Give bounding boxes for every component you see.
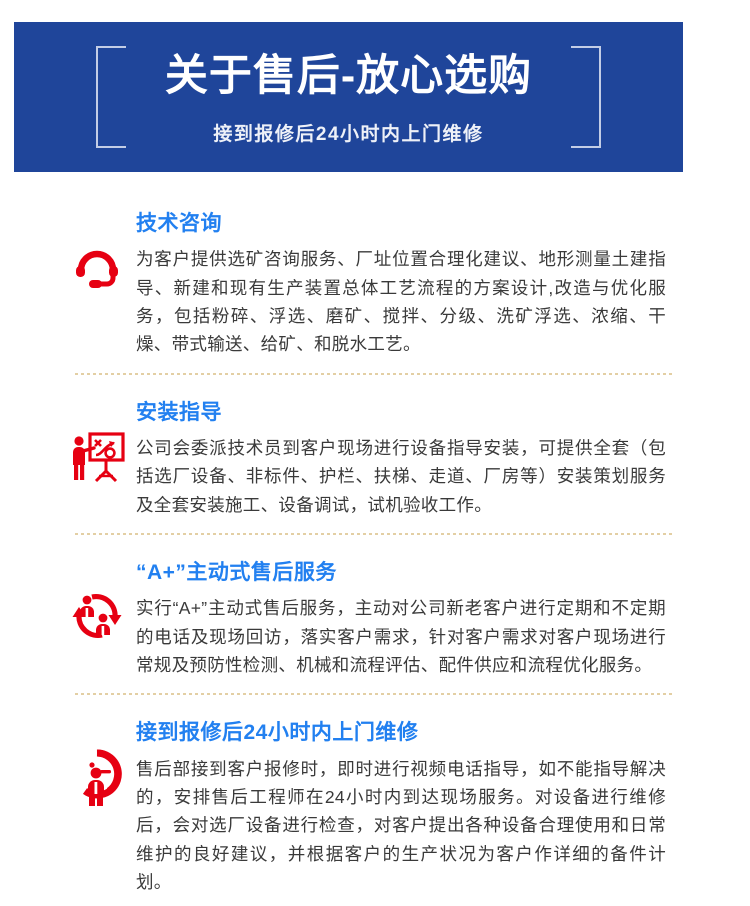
banner-inner: 关于售后-放心选购 接到报修后24小时内上门维修 xyxy=(14,22,683,172)
presentation-person-icon xyxy=(58,399,136,485)
service-section-title: “A+”主动式售后服务 xyxy=(136,559,666,586)
service-section-title: 接到报修后24小时内上门维修 xyxy=(136,719,666,746)
section-divider xyxy=(75,533,675,535)
service-section-row: 接到报修后24小时内上门维修 售后部接到客户报修时，即时进行视频电话指导，如不能… xyxy=(0,719,750,896)
service-section-text: “A+”主动式售后服务 实行“A+”主动式售后服务，主动对公司新老客户进行定期和… xyxy=(136,559,750,679)
service-section: “A+”主动式售后服务 实行“A+”主动式售后服务，主动对公司新老客户进行定期和… xyxy=(0,545,750,705)
service-section-title: 技术咨询 xyxy=(136,210,666,237)
banner-title: 关于售后-放心选购 xyxy=(14,52,683,101)
service-section-row: 安装指导 公司会委派技术员到客户现场进行设备指导安装，可提供全套（包括选厂设备、… xyxy=(0,399,750,519)
service-section-body: 实行“A+”主动式售后服务，主动对公司新老客户进行定期和不定期的电话及现场回访，… xyxy=(136,594,666,679)
service-section-title: 安装指导 xyxy=(136,399,666,426)
service-section-text: 技术咨询 为客户提供选矿咨询服务、厂址位置合理化建议、地形测量土建指导、新建和现… xyxy=(136,210,750,359)
service-section: 接到报修后24小时内上门维修 售后部接到客户报修时，即时进行视频电话指导，如不能… xyxy=(0,705,750,906)
service-sections-list: 技术咨询 为客户提供选矿咨询服务、厂址位置合理化建议、地形测量土建指导、新建和现… xyxy=(0,196,750,906)
service-section-body: 为客户提供选矿咨询服务、厂址位置合理化建议、地形测量土建指导、新建和现有生产装置… xyxy=(136,245,666,358)
section-divider xyxy=(75,693,675,695)
service-section-body: 售后部接到客户报修时，即时进行视频电话指导，如不能指导解决的，安排售后工程师在2… xyxy=(136,755,666,897)
service-section: 安装指导 公司会委派技术员到客户现场进行设备指导安装，可提供全套（包括选厂设备、… xyxy=(0,385,750,545)
service-section-row: “A+”主动式售后服务 实行“A+”主动式售后服务，主动对公司新老客户进行定期和… xyxy=(0,559,750,679)
service-section-text: 接到报修后24小时内上门维修 售后部接到客户报修时，即时进行视频电话指导，如不能… xyxy=(136,719,750,896)
people-cycle-icon xyxy=(58,559,136,643)
section-divider xyxy=(75,373,675,375)
person-in-circle-support-icon xyxy=(58,719,136,807)
banner-subtitle: 接到报修后24小时内上门维修 xyxy=(14,119,683,146)
header-banner: 关于售后-放心选购 接到报修后24小时内上门维修 xyxy=(14,22,683,172)
service-section: 技术咨询 为客户提供选矿咨询服务、厂址位置合理化建议、地形测量土建指导、新建和现… xyxy=(0,196,750,385)
headset-icon xyxy=(58,210,136,292)
service-section-body: 公司会委派技术员到客户现场进行设备指导安装，可提供全套（包括选厂设备、非标件、护… xyxy=(136,434,666,519)
service-section-row: 技术咨询 为客户提供选矿咨询服务、厂址位置合理化建议、地形测量土建指导、新建和现… xyxy=(0,210,750,359)
service-section-text: 安装指导 公司会委派技术员到客户现场进行设备指导安装，可提供全套（包括选厂设备、… xyxy=(136,399,750,519)
